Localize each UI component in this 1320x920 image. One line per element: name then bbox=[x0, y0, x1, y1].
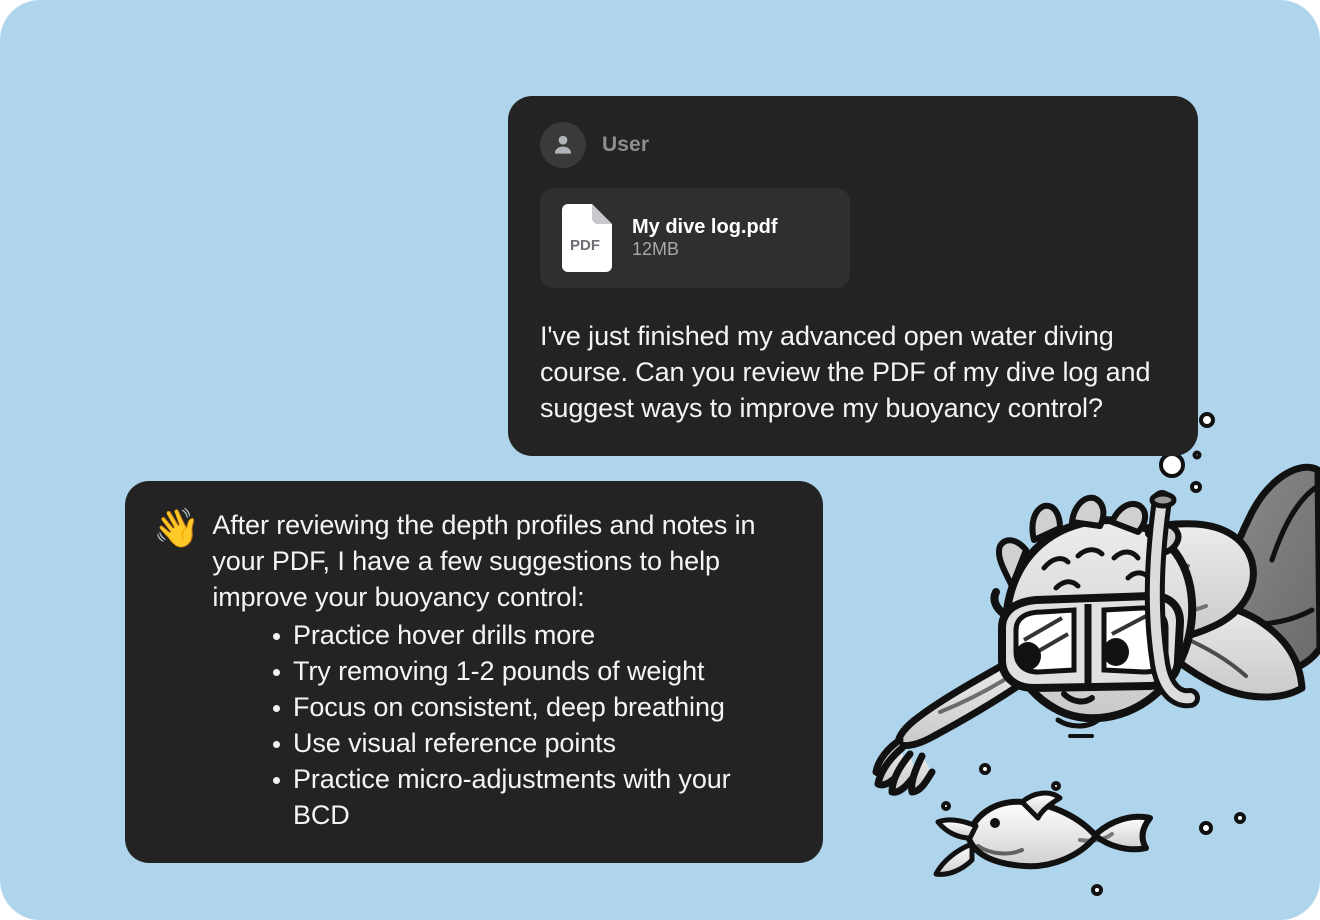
assistant-intro: 👋 After reviewing the depth profiles and… bbox=[153, 507, 793, 615]
user-name-label: User bbox=[602, 133, 649, 157]
user-header: User bbox=[540, 122, 1170, 168]
suggestion-list: Practice hover drills more Try removing … bbox=[153, 617, 793, 833]
list-item: Practice hover drills more bbox=[271, 617, 793, 653]
list-item: Focus on consistent, deep breathing bbox=[271, 689, 793, 725]
page-root: User PDF My dive log.pdf 12MB I've just … bbox=[0, 0, 1320, 920]
assistant-message-bubble: 👋 After reviewing the depth profiles and… bbox=[125, 481, 823, 863]
list-item: Use visual reference points bbox=[271, 725, 793, 761]
list-item: Practice micro-adjustments with your BCD bbox=[271, 761, 793, 833]
attachment-file-size: 12MB bbox=[632, 239, 679, 259]
assistant-intro-text: After reviewing the depth profiles and n… bbox=[212, 507, 793, 615]
svg-text:PDF: PDF bbox=[570, 237, 600, 254]
chat-thread: User PDF My dive log.pdf 12MB I've just … bbox=[0, 0, 1320, 920]
attachment-meta: My dive log.pdf 12MB bbox=[632, 216, 828, 260]
attachment-file-name: My dive log.pdf bbox=[632, 216, 778, 238]
list-item: Try removing 1-2 pounds of weight bbox=[271, 653, 793, 689]
user-message-text: I've just finished my advanced open wate… bbox=[540, 318, 1170, 426]
user-message-bubble: User PDF My dive log.pdf 12MB I've just … bbox=[508, 96, 1198, 456]
pdf-file-icon: PDF bbox=[558, 204, 612, 272]
pdf-attachment-card[interactable]: PDF My dive log.pdf 12MB bbox=[540, 188, 850, 288]
person-icon bbox=[540, 122, 586, 168]
waving-hand-emoji: 👋 bbox=[153, 509, 200, 549]
